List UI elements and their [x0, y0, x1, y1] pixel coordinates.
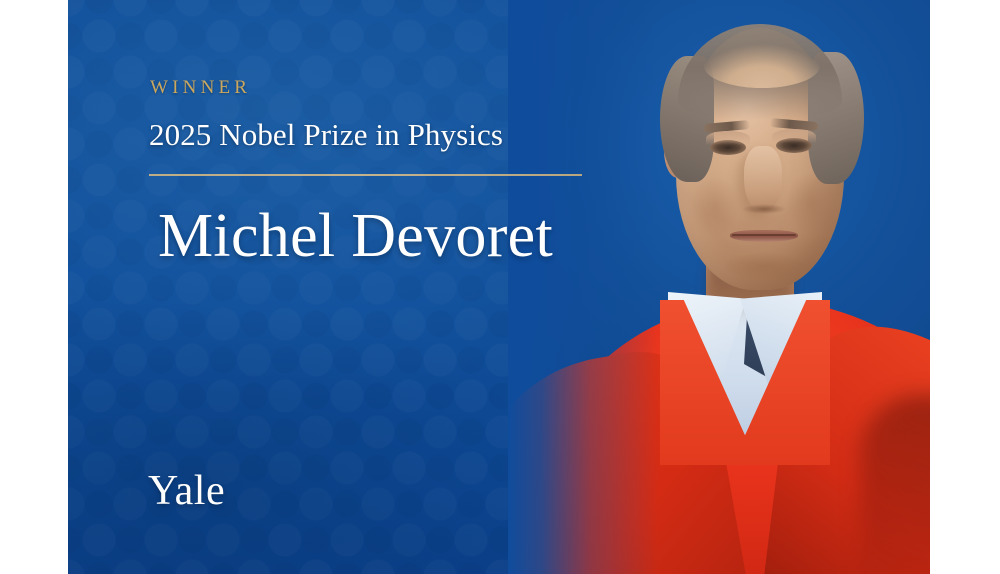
sweater-shadow	[860, 395, 930, 574]
nose	[744, 146, 782, 212]
eyelid-right	[772, 129, 816, 143]
laureate-name: Michel Devoret	[158, 204, 608, 269]
cheek-left-shading	[690, 176, 740, 238]
award-text-block: WINNER 2025 Nobel Prize in Physics Miche…	[148, 78, 608, 269]
award-panel: WINNER 2025 Nobel Prize in Physics Miche…	[68, 0, 930, 574]
award-card-canvas: WINNER 2025 Nobel Prize in Physics Miche…	[0, 0, 1000, 574]
mouth	[730, 230, 798, 242]
gold-divider-rule	[149, 174, 582, 176]
cheek-right-shading	[786, 172, 838, 236]
winner-eyebrow-label: WINNER	[150, 78, 608, 97]
forehead-highlight	[704, 44, 820, 88]
mouth-line	[732, 234, 796, 236]
chin-shadow	[722, 252, 806, 280]
award-title: 2025 Nobel Prize in Physics	[149, 119, 608, 152]
yale-wordmark: Yale	[148, 470, 225, 512]
nostrils	[742, 204, 786, 214]
eyelid-left	[706, 131, 750, 145]
